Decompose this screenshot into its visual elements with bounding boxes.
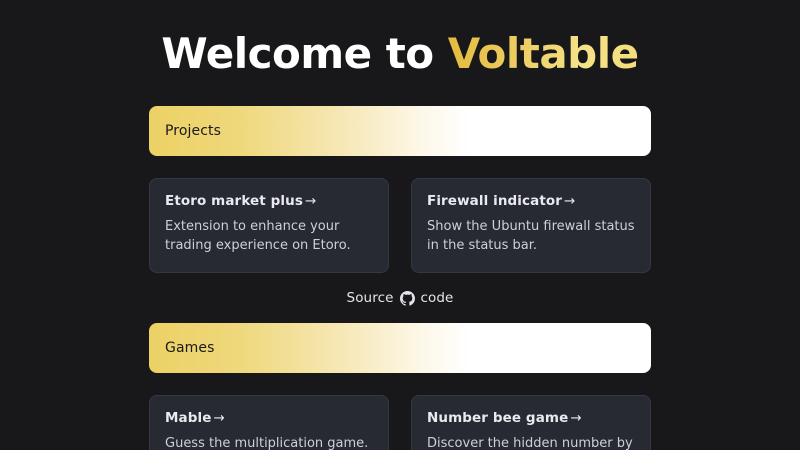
- card-title: Firewall indicator→: [427, 193, 635, 209]
- content-column: Projects Etoro market plus→ Extension to…: [149, 77, 651, 450]
- project-card[interactable]: Firewall indicator→ Show the Ubuntu fire…: [411, 178, 651, 273]
- card-description: Show the Ubuntu firewall status in the s…: [427, 218, 635, 256]
- page-title: Welcome to Voltable: [0, 0, 800, 77]
- source-label-after: code: [421, 290, 454, 306]
- card-description: Discover the hidden number by: [427, 435, 635, 450]
- project-card[interactable]: Etoro market plus→ Extension to enhance …: [149, 178, 389, 273]
- card-description: Guess the multiplication game.: [165, 435, 373, 450]
- section-banner-games[interactable]: Games: [149, 323, 651, 373]
- card-title: Number bee game→: [427, 410, 635, 426]
- source-code-link[interactable]: Source code: [149, 290, 651, 306]
- card-title-text: Mable: [165, 410, 212, 426]
- brand-name: Voltable: [448, 29, 639, 78]
- arrow-right-icon: →: [303, 193, 316, 209]
- card-grid-games: Mable→ Guess the multiplication game. Nu…: [149, 395, 651, 450]
- arrow-right-icon: →: [568, 410, 581, 426]
- card-title: Etoro market plus→: [165, 193, 373, 209]
- section-banner-label: Games: [165, 340, 214, 356]
- github-icon[interactable]: [400, 291, 415, 306]
- section-banner-label: Projects: [165, 123, 221, 139]
- card-title: Mable→: [165, 410, 373, 426]
- card-description: Extension to enhance your trading experi…: [165, 218, 373, 256]
- page-title-prefix: Welcome to: [161, 29, 447, 78]
- welcome-page: Welcome to Voltable Projects Etoro marke…: [0, 0, 800, 450]
- arrow-right-icon: →: [212, 410, 225, 426]
- card-grid-projects: Etoro market plus→ Extension to enhance …: [149, 178, 651, 273]
- arrow-right-icon: →: [562, 193, 575, 209]
- source-label-before: Source: [347, 290, 394, 306]
- card-title-text: Number bee game: [427, 410, 568, 426]
- section-banner-projects[interactable]: Projects: [149, 106, 651, 156]
- card-title-text: Etoro market plus: [165, 193, 303, 209]
- game-card[interactable]: Mable→ Guess the multiplication game.: [149, 395, 389, 450]
- game-card[interactable]: Number bee game→ Discover the hidden num…: [411, 395, 651, 450]
- card-title-text: Firewall indicator: [427, 193, 562, 209]
